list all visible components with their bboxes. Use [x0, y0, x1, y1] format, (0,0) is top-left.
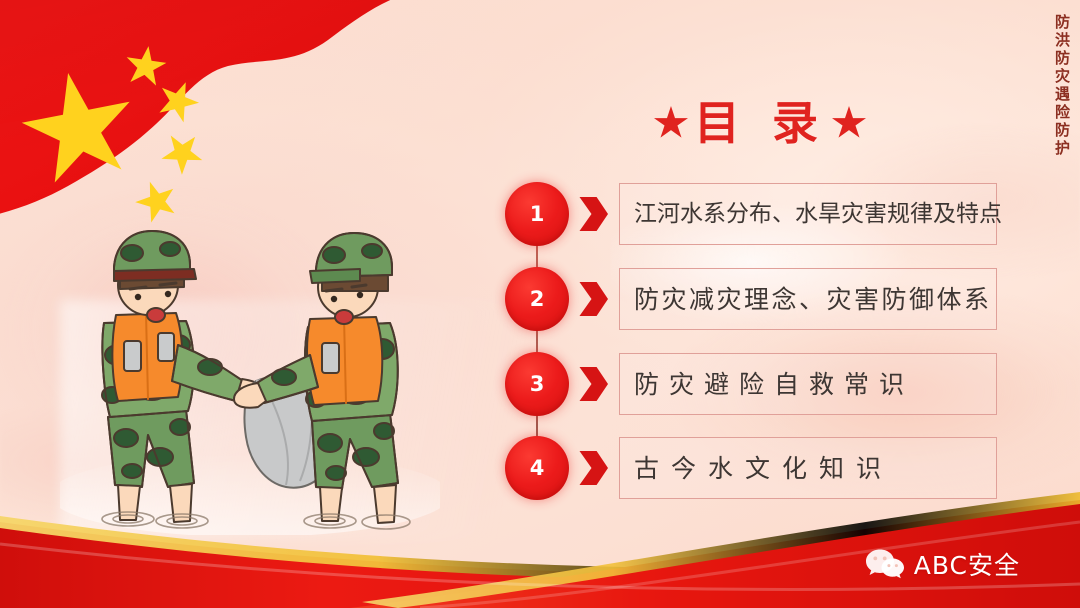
- slide-canvas: 防洪防灾遇险防护 目 录: [0, 0, 1080, 608]
- toc-number-3: 3: [530, 374, 545, 395]
- page-title-text: 目 录: [694, 100, 826, 146]
- star-icon-right: [832, 106, 866, 140]
- toc-label-box-3[interactable]: 防灾避险自救常识: [619, 353, 997, 415]
- toc-label-1: 江河水系分布、水旱灾害规律及特点: [634, 203, 1002, 226]
- wechat-icon: [865, 548, 905, 582]
- toc-number-badge-2: 2: [505, 267, 569, 331]
- brand-watermark: ABC安全: [865, 548, 1020, 582]
- bottom-ribbon-decoration: [0, 478, 1080, 608]
- toc-label-4: 古今水文化知识: [634, 456, 893, 481]
- toc-label-2: 防灾减灾理念、灾害防御体系: [634, 287, 992, 312]
- table-of-contents: 1 江河水系分布、水旱灾害规律及特点 2 防灾减灾理念、灾害防御体系 3 防灾避…: [505, 182, 995, 492]
- page-title: 目 录: [600, 92, 920, 154]
- vertical-side-title: 防洪防灾遇险防护: [1053, 14, 1070, 158]
- toc-number-2: 2: [530, 289, 545, 310]
- chevron-right-icon-2: [578, 282, 608, 316]
- brand-name: ABC安全: [914, 553, 1020, 578]
- toc-label-box-1[interactable]: 江河水系分布、水旱灾害规律及特点: [619, 183, 997, 245]
- toc-number-badge-3: 3: [505, 352, 569, 416]
- chevron-right-icon-1: [578, 197, 608, 231]
- toc-number-4: 4: [530, 458, 545, 479]
- star-icon-left: [654, 106, 688, 140]
- toc-item-1[interactable]: 1 江河水系分布、水旱灾害规律及特点: [505, 182, 997, 246]
- chevron-right-icon-3: [578, 367, 608, 401]
- toc-number-badge-1: 1: [505, 182, 569, 246]
- toc-label-box-2[interactable]: 防灾减灾理念、灾害防御体系: [619, 268, 997, 330]
- toc-label-3: 防灾避险自救常识: [634, 372, 914, 397]
- toc-number-1: 1: [530, 204, 545, 225]
- toc-item-3[interactable]: 3 防灾避险自救常识: [505, 352, 997, 416]
- toc-item-2[interactable]: 2 防灾减灾理念、灾害防御体系: [505, 267, 997, 331]
